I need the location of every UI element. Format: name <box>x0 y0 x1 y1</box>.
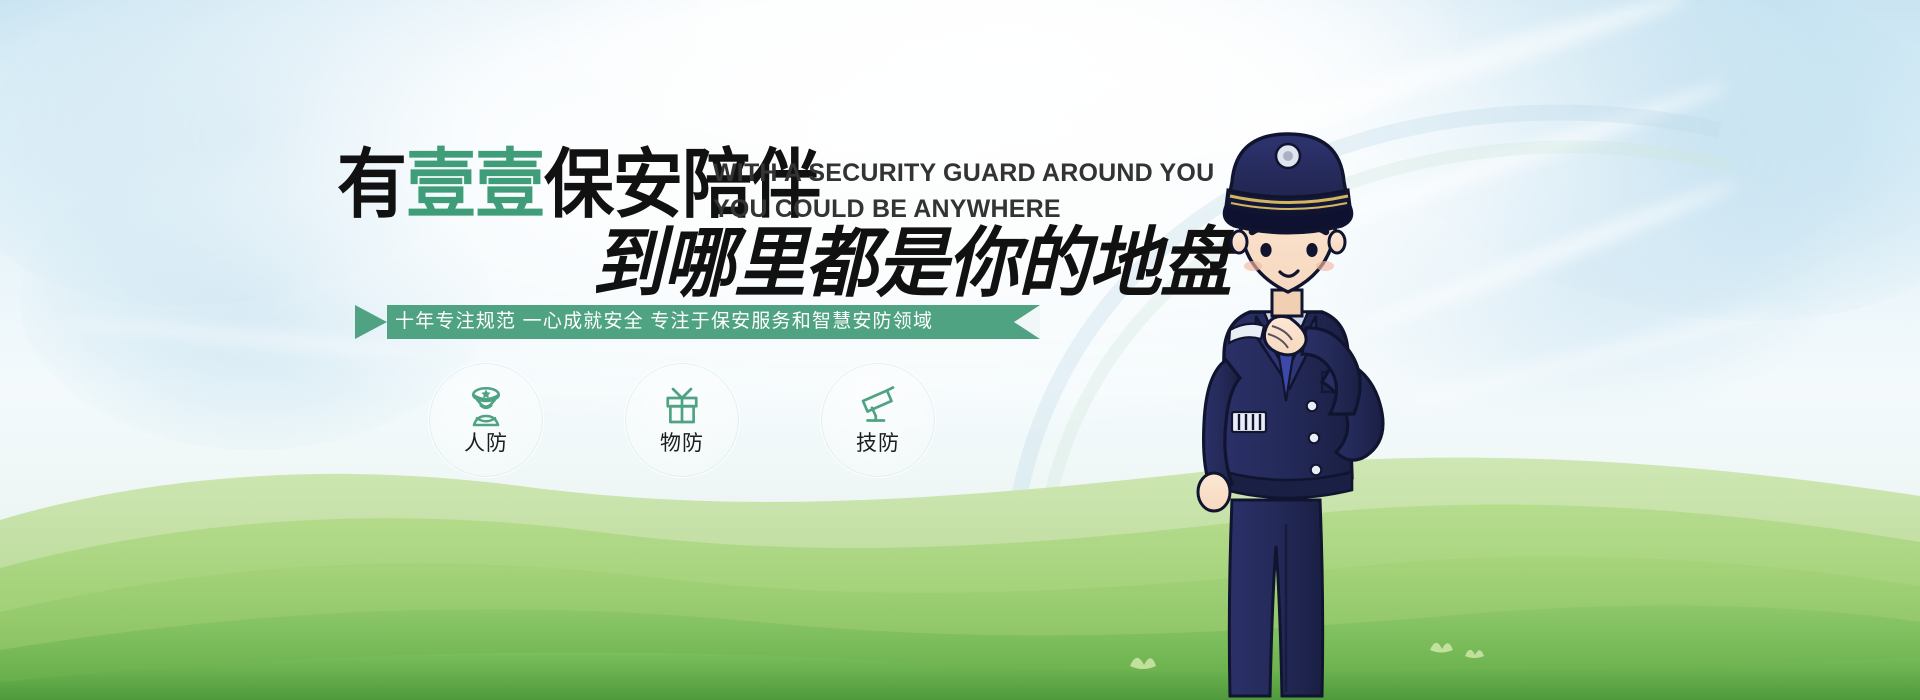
saluting-security-guard <box>1140 120 1440 700</box>
headline-brand-highlight: 壹壹 <box>406 143 544 227</box>
headline-part-1: 有 <box>337 143 406 227</box>
feature-label-wufang: 物防 <box>660 432 704 456</box>
tagline-ribbon: 十年专注规范 一心成就安全 专注于保安服务和智慧安防领域 <box>355 305 1040 339</box>
hero-banner: 有壹壹保安陪伴 WITH A SECURITY GUARD AROUND YOU… <box>0 0 1920 700</box>
feature-label-renfang: 人防 <box>464 432 508 456</box>
feature-label-jifang: 技防 <box>856 432 900 456</box>
guard-legs <box>1229 500 1322 696</box>
ribbon-arrow-icon <box>355 305 387 339</box>
ribbon-text: 十年专注规范 一心成就安全 专注于保安服务和智慧安防领域 <box>395 305 933 339</box>
security-officer-icon <box>462 384 510 430</box>
hills-svg <box>0 400 1920 700</box>
feature-badges: 人防 物防 <box>428 362 948 462</box>
gift-box-icon <box>658 384 706 430</box>
cctv-camera-icon <box>854 384 902 430</box>
feature-badge-wufang[interactable]: 物防 <box>624 362 740 478</box>
headline-line-2: 到哪里都是你的地盘 <box>592 226 1231 302</box>
ground-hills <box>0 400 1920 700</box>
feature-badge-jifang[interactable]: 技防 <box>820 362 936 478</box>
guard-cap <box>1224 134 1352 233</box>
guard-eye-left-icon <box>1260 243 1271 257</box>
guard-left-hand <box>1198 473 1230 511</box>
ribbon-notch-icon <box>1014 305 1040 339</box>
guard-neck <box>1272 290 1302 316</box>
guard-eye-right-icon <box>1306 243 1317 257</box>
feature-badge-renfang[interactable]: 人防 <box>428 362 544 478</box>
